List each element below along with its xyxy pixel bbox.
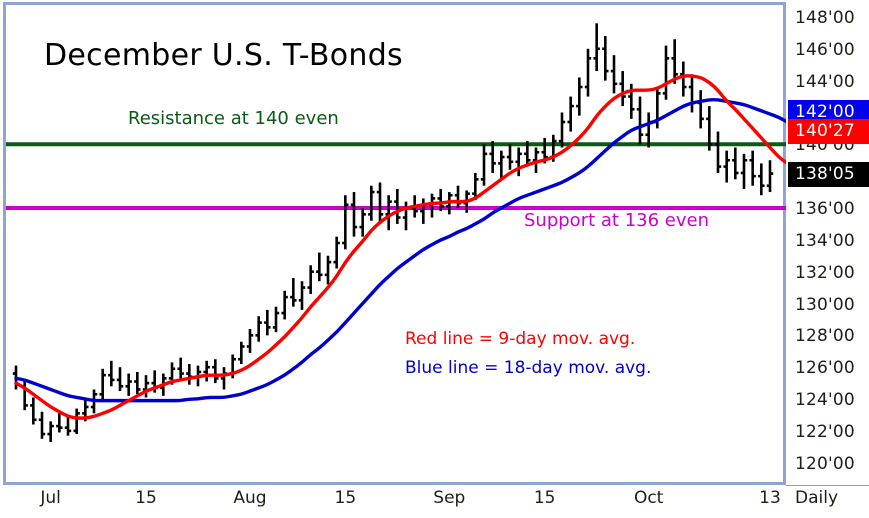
ohlc-bar bbox=[455, 186, 461, 208]
last-price-tag[interactable]: 138'05 bbox=[788, 162, 869, 187]
ohlc-bar bbox=[576, 77, 582, 115]
ohlc-bar bbox=[342, 195, 348, 249]
ohlc-bar bbox=[645, 112, 651, 147]
price-tick-132: 132'00 bbox=[795, 263, 855, 283]
ohlc-bar bbox=[47, 421, 53, 442]
ohlc-bar bbox=[221, 367, 227, 389]
ohlc-bar bbox=[273, 307, 279, 332]
ohlc-bar bbox=[307, 265, 313, 294]
ohlc-bar bbox=[316, 253, 322, 282]
ma9-tag[interactable]: 140'27 bbox=[788, 119, 869, 144]
support-annotation: Support at 136 even bbox=[524, 210, 709, 231]
ohlc-bar bbox=[177, 358, 183, 380]
ohlc-bar bbox=[507, 144, 513, 169]
ohlc-bar bbox=[429, 194, 435, 218]
ohlc-bar bbox=[125, 374, 131, 396]
ohlc-bar bbox=[689, 74, 695, 112]
date-tick-15: 15 bbox=[534, 488, 556, 508]
ohlc-bar bbox=[377, 183, 383, 224]
ohlc-bar bbox=[559, 112, 565, 147]
ohlc-bar bbox=[663, 46, 669, 100]
ohlc-bar bbox=[385, 195, 391, 230]
price-tick-144: 144'00 bbox=[795, 72, 855, 92]
ohlc-bar bbox=[290, 278, 296, 307]
price-tick-122: 122'00 bbox=[795, 422, 855, 442]
price-tick-130: 130'00 bbox=[795, 295, 855, 315]
ohlc-bar bbox=[602, 36, 608, 81]
axis-divider bbox=[786, 485, 869, 486]
date-axis: Jul15Aug15Sep15Oct13Daily bbox=[0, 488, 869, 518]
resistance-annotation: Resistance at 140 even bbox=[128, 108, 339, 129]
price-tick-148: 148'00 bbox=[795, 8, 855, 28]
chart-plot-area[interactable] bbox=[6, 5, 786, 485]
ohlc-bar bbox=[758, 163, 764, 195]
ohlc-bar bbox=[767, 160, 773, 192]
date-tick-jul: Jul bbox=[40, 488, 61, 508]
ohlc-bar bbox=[325, 256, 331, 285]
ohlc-bar bbox=[212, 359, 218, 383]
price-tick-124: 124'00 bbox=[795, 390, 855, 410]
ohlc-bar bbox=[715, 132, 721, 173]
ohlc-bar bbox=[21, 380, 27, 410]
ohlc-bar bbox=[749, 151, 755, 186]
price-tick-120: 120'00 bbox=[795, 454, 855, 474]
ohlc-bar bbox=[186, 364, 192, 385]
ohlc-bar bbox=[481, 144, 487, 185]
price-tick-134: 134'00 bbox=[795, 231, 855, 251]
ohlc-bar bbox=[203, 361, 209, 382]
ohlc-bar bbox=[39, 412, 45, 439]
ohlc-bar bbox=[723, 151, 729, 183]
price-tick-126: 126'00 bbox=[795, 358, 855, 378]
price-tick-128: 128'00 bbox=[795, 326, 855, 346]
date-tick-oct: Oct bbox=[634, 488, 663, 508]
ohlc-bar bbox=[264, 310, 270, 335]
date-tick-15: 15 bbox=[135, 488, 157, 508]
ohlc-bar bbox=[333, 237, 339, 269]
ohlc-bar bbox=[247, 329, 253, 353]
ohlc-bar bbox=[680, 62, 686, 97]
ohlc-bar bbox=[697, 90, 703, 128]
price-tick-136: 136'00 bbox=[795, 199, 855, 219]
ohlc-bar bbox=[134, 372, 140, 394]
ohlc-bar bbox=[238, 342, 244, 364]
ohlc-bar bbox=[73, 409, 79, 434]
ohlc-bar bbox=[498, 151, 504, 180]
interval-label: Daily bbox=[795, 488, 838, 508]
ohlc-bar bbox=[99, 369, 105, 399]
ohlc-bar bbox=[117, 367, 123, 391]
ohlc-bar bbox=[637, 97, 643, 145]
ohlc-bar bbox=[299, 281, 305, 310]
ohlc-bar bbox=[515, 147, 521, 176]
ohlc-bar bbox=[255, 316, 261, 341]
legend-entry-ma9: Red line = 9-day mov. avg. bbox=[405, 329, 635, 349]
price-axis[interactable]: 148'00146'00144'00142'00140'00138'00136'… bbox=[786, 2, 869, 485]
ohlc-bar bbox=[585, 49, 591, 97]
ohlc-bar bbox=[611, 55, 617, 93]
ohlc-bar bbox=[281, 291, 287, 320]
ohlc-bar bbox=[732, 147, 738, 179]
ohlc-bar bbox=[56, 413, 62, 432]
date-tick-13: 13 bbox=[759, 488, 781, 508]
date-tick-aug: Aug bbox=[233, 488, 266, 508]
legend-entry-ma18: Blue line = 18-day mov. avg. bbox=[405, 358, 651, 378]
ohlc-bar bbox=[619, 71, 625, 106]
date-tick-15: 15 bbox=[335, 488, 357, 508]
ohlc-bar bbox=[368, 186, 374, 221]
date-tick-sep: Sep bbox=[433, 488, 465, 508]
ohlc-bar bbox=[567, 97, 573, 132]
chart-canvas bbox=[6, 5, 786, 485]
ohlc-bar bbox=[741, 154, 747, 189]
ohlc-bar bbox=[593, 23, 599, 71]
chart-app: December U.S. T-Bonds Resistance at 140 … bbox=[0, 0, 869, 518]
ohlc-bar bbox=[420, 198, 426, 223]
ohlc-bar bbox=[30, 397, 36, 424]
ohlc-bar bbox=[359, 208, 365, 237]
page-title: December U.S. T-Bonds bbox=[44, 38, 403, 73]
price-tick-146: 146'00 bbox=[795, 40, 855, 60]
ohlc-bar bbox=[351, 192, 357, 237]
ohlc-bar bbox=[108, 361, 114, 386]
